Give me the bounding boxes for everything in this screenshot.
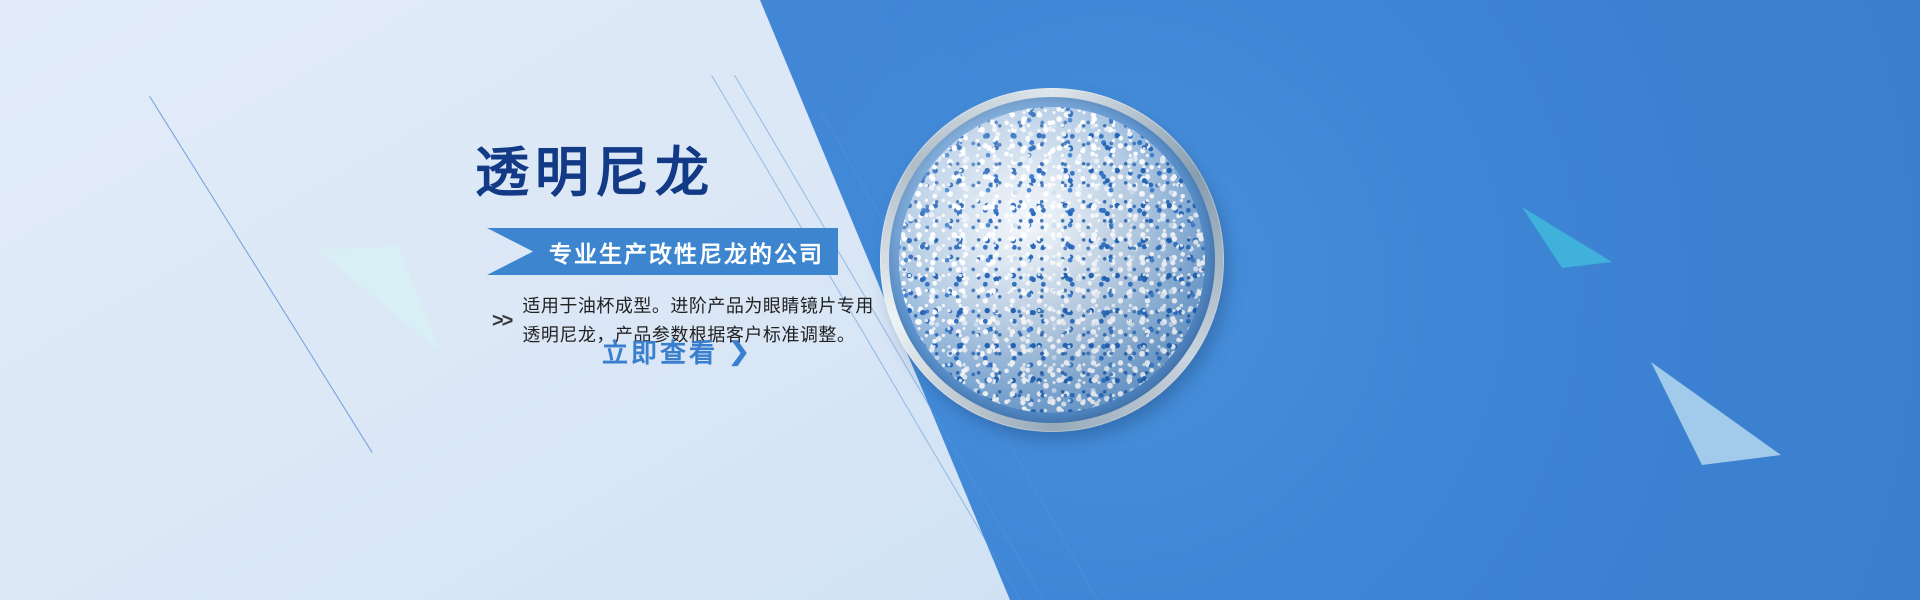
- hero-banner: 透明尼龙 专业生产改性尼龙的公司 >> 适用于油杯成型。进阶产品为眼睛镜片专用 …: [0, 0, 1920, 600]
- dish-inner: [889, 97, 1215, 423]
- chevron-double-right-icon: >>: [492, 310, 511, 333]
- nylon-granules: [899, 107, 1205, 413]
- banner-content: 透明尼龙 专业生产改性尼龙的公司 >> 适用于油杯成型。进阶产品为眼睛镜片专用 …: [0, 0, 900, 600]
- chevron-right-icon: ❯: [727, 336, 751, 367]
- view-now-link[interactable]: 立即查看 ❯: [602, 333, 750, 370]
- subtitle-ribbon-label: 专业生产改性尼龙的公司: [549, 235, 824, 269]
- product-image-petri-dish: [880, 88, 1232, 440]
- view-now-label: 立即查看: [602, 333, 718, 370]
- page-title: 透明尼龙: [475, 128, 715, 207]
- subtitle-ribbon: 专业生产改性尼龙的公司: [487, 228, 838, 275]
- description-line-1: 适用于油杯成型。进阶产品为眼睛镜片专用: [522, 292, 874, 321]
